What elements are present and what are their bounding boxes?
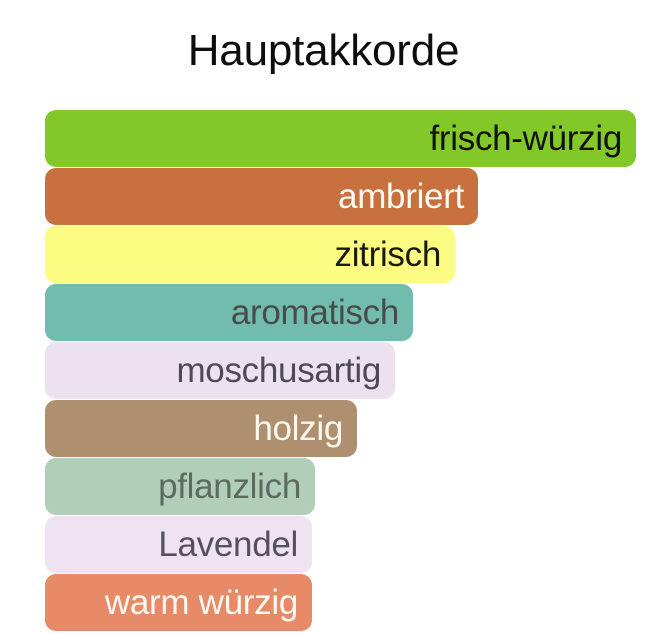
bar-segment[interactable]: warm würzig [45, 574, 312, 631]
bar-row: moschusartig [45, 342, 647, 399]
bar-row: zitrisch [45, 226, 647, 283]
bar-label: warm würzig [105, 585, 298, 620]
bar-list: frisch-würzigambriertzitrischaromatischm… [45, 110, 647, 632]
bar-segment[interactable]: ambriert [45, 168, 478, 225]
bar-label: pflanzlich [158, 469, 301, 504]
bar-row: warm würzig [45, 574, 647, 631]
bar-label: frisch-würzig [429, 121, 622, 156]
bar-label: ambriert [338, 179, 464, 214]
bar-segment[interactable]: Lavendel [45, 516, 312, 573]
bar-row: holzig [45, 400, 647, 457]
bar-segment[interactable]: aromatisch [45, 284, 413, 341]
bar-segment[interactable]: pflanzlich [45, 458, 315, 515]
fragrance-accords-chart: Hauptakkorde frisch-würzigambriertzitris… [0, 0, 647, 633]
bar-row: pflanzlich [45, 458, 647, 515]
bar-segment[interactable]: frisch-würzig [45, 110, 636, 167]
bar-label: zitrisch [335, 237, 442, 272]
bar-row: ambriert [45, 168, 647, 225]
bar-row: aromatisch [45, 284, 647, 341]
bar-label: aromatisch [231, 295, 399, 330]
bar-segment[interactable]: holzig [45, 400, 357, 457]
page-title: Hauptakkorde [0, 25, 647, 77]
bar-row: frisch-würzig [45, 110, 647, 167]
bar-segment[interactable]: zitrisch [45, 226, 455, 283]
bar-label: holzig [253, 411, 343, 446]
bar-row: Lavendel [45, 516, 647, 573]
bar-label: moschusartig [176, 353, 381, 388]
bar-segment[interactable]: moschusartig [45, 342, 395, 399]
bar-label: Lavendel [158, 527, 298, 562]
